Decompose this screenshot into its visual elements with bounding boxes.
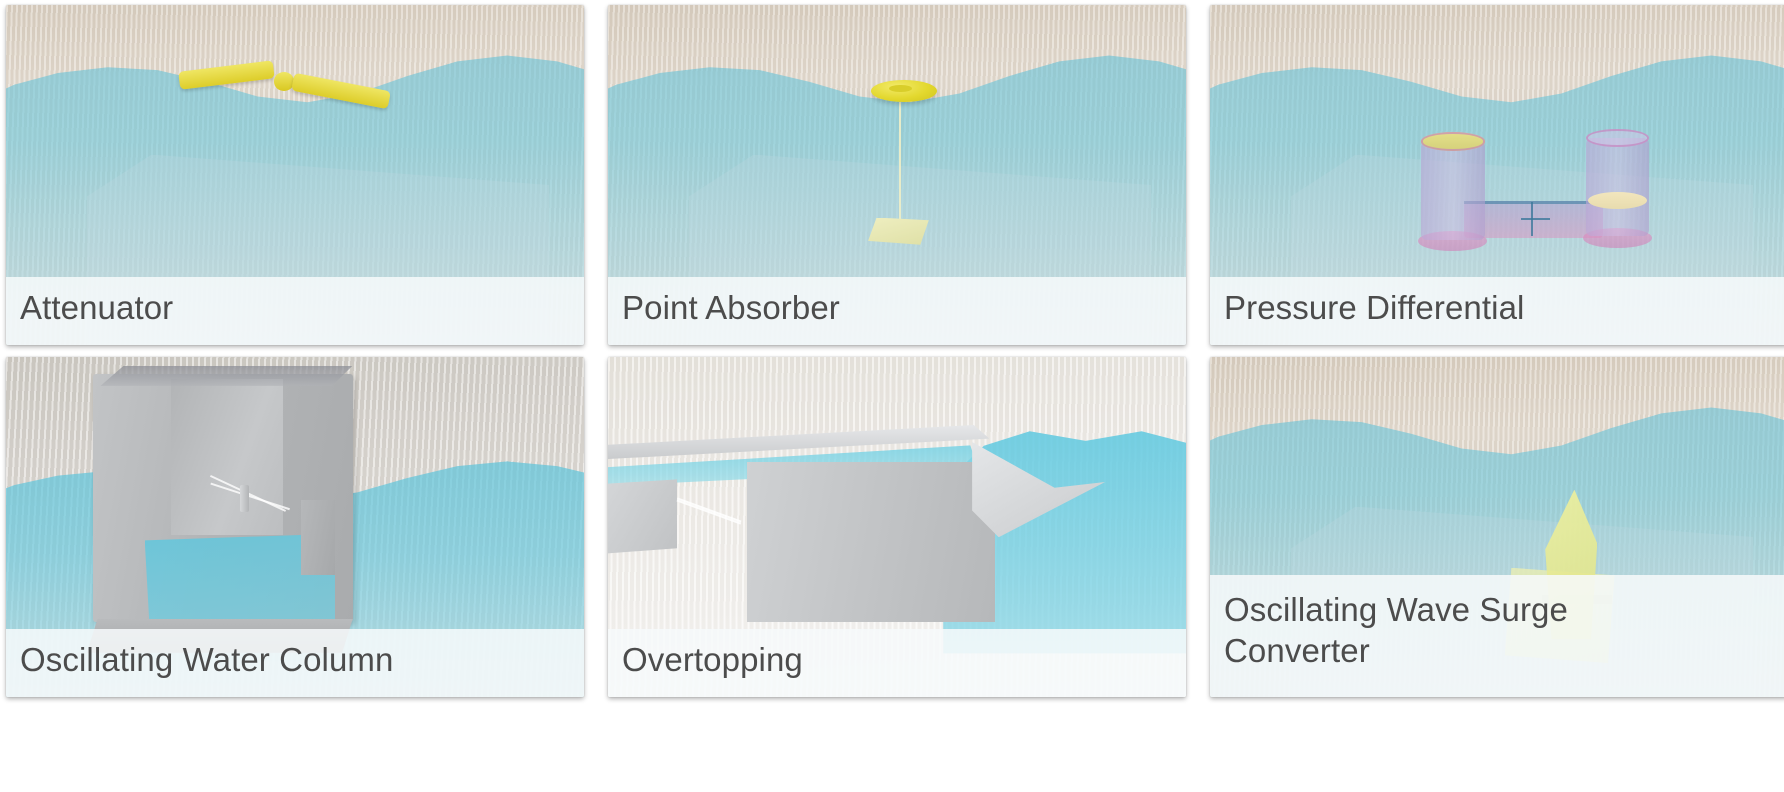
chamber-leg <box>301 500 336 575</box>
card-caption-label: Oscillating Water Column <box>20 639 393 680</box>
buoy-cap <box>889 85 912 92</box>
seabed-plate <box>868 218 929 245</box>
card-caption: Oscillating Wave Surge Converter <box>1210 575 1784 697</box>
card-caption: Oscillating Water Column <box>6 629 584 697</box>
cylinder-right <box>1586 138 1650 237</box>
wave-energy-converter-gallery: Attenuator Point Absorber <box>0 0 1784 792</box>
tube-rail <box>1464 201 1603 204</box>
cylinder-right-fill <box>1588 192 1647 209</box>
card-caption-label: Oscillating Wave Surge Converter <box>1224 589 1568 672</box>
cylinder-left-cap <box>1421 132 1485 150</box>
card-caption-label: Attenuator <box>20 287 173 328</box>
gallery-card-pressure-differential[interactable]: Pressure Differential <box>1210 5 1784 345</box>
turbine-hub <box>240 485 249 512</box>
card-caption-label: Point Absorber <box>622 287 840 328</box>
chamber-lid <box>93 366 353 386</box>
cylinder-right-cap <box>1586 129 1650 147</box>
gallery-card-oscillating-wave-surge-converter[interactable]: Oscillating Wave Surge Converter <box>1210 357 1784 697</box>
cylinder-left <box>1421 141 1485 240</box>
gallery-card-point-absorber[interactable]: Point Absorber <box>608 5 1186 345</box>
turbine-blades <box>672 493 747 534</box>
structure-body <box>747 462 996 622</box>
card-caption: Overtopping <box>608 629 1186 697</box>
gallery-card-attenuator[interactable]: Attenuator <box>6 5 584 345</box>
tube-pin-horizontal <box>1521 218 1550 220</box>
card-caption: Point Absorber <box>608 277 1186 345</box>
card-caption: Attenuator <box>6 277 584 345</box>
gallery-card-oscillating-water-column[interactable]: Oscillating Water Column <box>6 357 584 697</box>
mooring-line <box>899 102 901 221</box>
card-caption: Pressure Differential <box>1210 277 1784 345</box>
gallery-card-overtopping[interactable]: Overtopping <box>608 357 1186 697</box>
card-caption-label: Overtopping <box>622 639 803 680</box>
card-caption-label: Pressure Differential <box>1224 287 1524 328</box>
side-wall <box>608 479 677 554</box>
